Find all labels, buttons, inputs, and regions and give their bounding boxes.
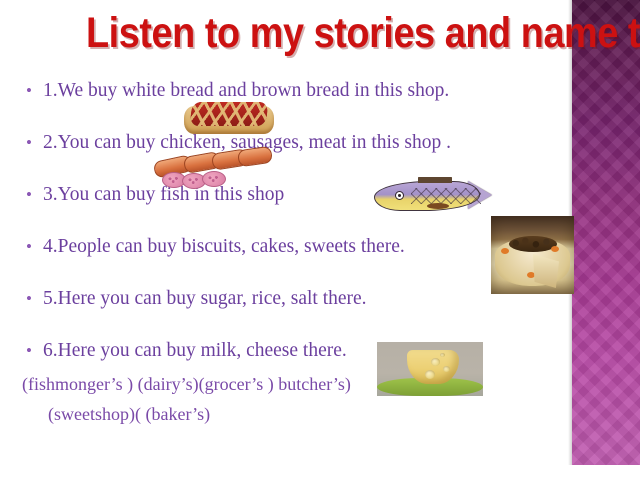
bullet-icon: • <box>26 290 43 307</box>
fish-scales <box>411 188 481 204</box>
bullet-icon: • <box>26 186 43 203</box>
cheese-hole <box>425 370 435 379</box>
cheese-hole <box>431 358 440 366</box>
cheese-image <box>377 342 483 396</box>
slide-title: Listen to my stories and name the kind o… <box>86 8 561 58</box>
cake-image <box>491 216 574 294</box>
bullet-icon: • <box>26 342 43 359</box>
bullet-icon: • <box>26 82 43 99</box>
fish-body <box>374 181 480 211</box>
cheese-hole <box>443 366 450 372</box>
list-item: • 5.Here you can buy sugar, rice, salt t… <box>26 288 606 340</box>
bullet-icon: • <box>26 134 43 151</box>
fish-dorsal-fin <box>418 177 452 183</box>
cheese-hole <box>440 353 445 357</box>
answer-key: (fishmonger’s ) (dairy’s)(grocer’s ) but… <box>22 374 582 425</box>
list-item: • 1.We buy white bread and brown bread i… <box>26 80 606 132</box>
cake-decoration <box>501 248 509 254</box>
bullet-icon: • <box>26 238 43 255</box>
bread-pie-image <box>182 97 276 137</box>
cake-decoration <box>551 246 559 252</box>
salami-slice <box>202 171 226 187</box>
list-item: • 2.You can buy chicken, sausages, meat … <box>26 132 606 184</box>
list-item-label: 6.Here you can buy milk, cheese there. <box>43 340 347 362</box>
slide-canvas: Listen to my stories and name the kind o… <box>0 0 640 480</box>
answer-key-row-1: (fishmonger’s ) (dairy’s)(grocer’s ) but… <box>22 374 582 395</box>
fish-eye <box>395 191 404 200</box>
pie-lattice <box>190 102 269 126</box>
list-item-label: 4.People can buy biscuits, cakes, sweets… <box>43 236 405 258</box>
cake-topping <box>509 236 557 252</box>
sausages-image <box>152 146 274 190</box>
fish-image <box>366 177 500 217</box>
fish-belly-spot <box>427 203 449 209</box>
sausage-link <box>237 146 273 167</box>
answer-key-row-2: (sweetshop)( (baker’s) <box>22 404 582 425</box>
cake-decoration <box>527 272 535 278</box>
list-item-label: 5.Here you can buy sugar, rice, salt the… <box>43 288 367 310</box>
